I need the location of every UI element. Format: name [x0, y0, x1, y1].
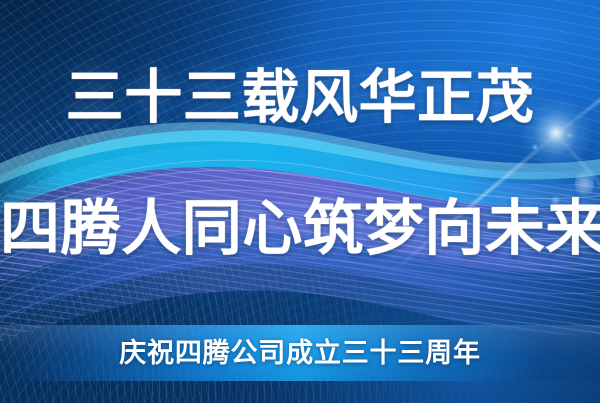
poster-content: 三十三载风华正茂 四腾人同心筑梦向未来 庆祝四腾公司成立三十三周年: [0, 0, 600, 403]
anniversary-poster: 三十三载风华正茂 四腾人同心筑梦向未来 庆祝四腾公司成立三十三周年: [0, 0, 600, 403]
subtitle-text: 庆祝四腾公司成立三十三周年: [0, 336, 600, 370]
headline-line-1: 三十三载风华正茂: [0, 66, 600, 130]
headline-line-2: 四腾人同心筑梦向未来: [0, 196, 600, 262]
